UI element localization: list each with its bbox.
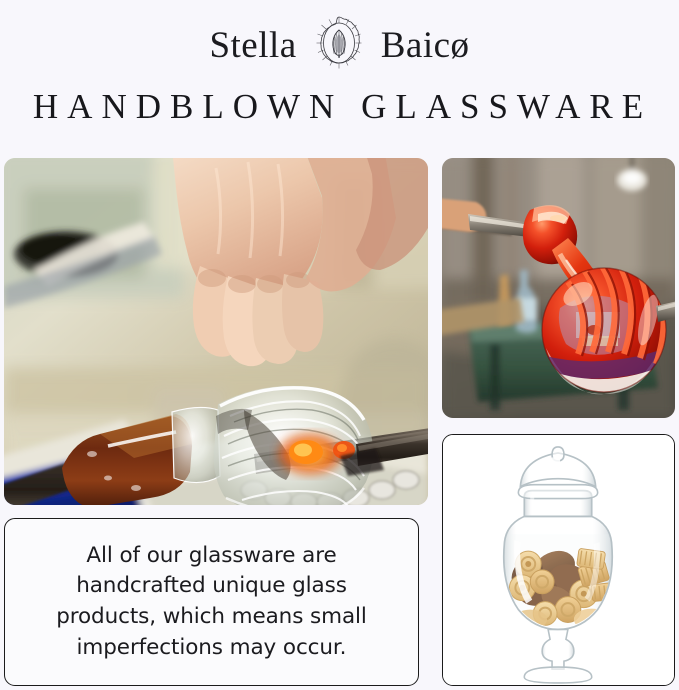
molten-red-glass-sphere-photo: Molten red-orange glass sphere with spir… [442, 158, 675, 418]
brand-name-right: Baicø [381, 27, 470, 64]
disclaimer-line-4: imperfections may occur. [56, 633, 367, 664]
glassblowing-blowpipe-photo: Glassblower's hand steadying a glowing m… [4, 158, 428, 505]
brand-header: Stella [0, 0, 679, 84]
content-grid: Glassblower's hand steadying a glowing m… [4, 158, 675, 686]
glass-apothecary-jar-photo: Clear handblown glass apothecary jar wit… [442, 434, 675, 686]
page-title: HANDBLOWN GLASSWARE [0, 84, 679, 127]
disclaimer-line-1: All of our glassware are [56, 541, 367, 572]
disclaimer-text: All of our glassware are handcrafted uni… [56, 541, 367, 663]
scalloped-oval-leaf-emblem-icon [311, 15, 367, 75]
brand-name-left: Stella [209, 27, 296, 64]
disclaimer-line-2: handcrafted unique glass [56, 571, 367, 602]
disclaimer-card: All of our glassware are handcrafted uni… [4, 518, 419, 686]
disclaimer-line-3: products, which means small [56, 602, 367, 633]
